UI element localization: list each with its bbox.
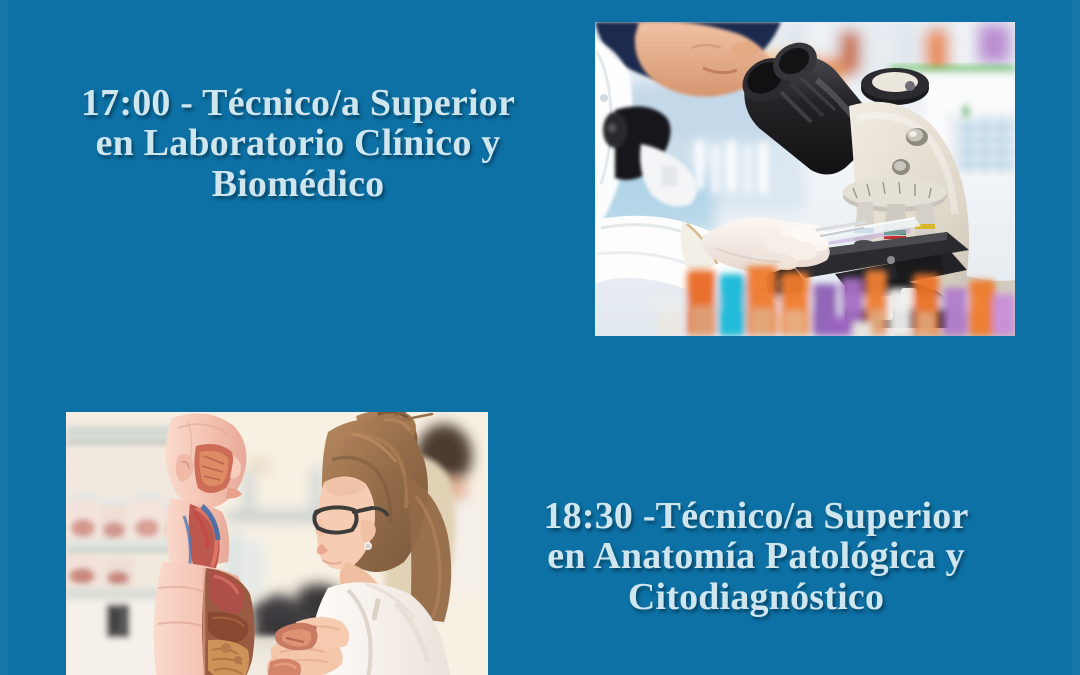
session-title-morning: 17:00 - Técnico/a Superior en Laboratori… — [34, 83, 562, 204]
left-edge-strip — [0, 0, 8, 675]
slide-root: Científico de laboratorio con bata blanc… — [0, 0, 1080, 675]
microscope-illustration — [595, 22, 1015, 336]
anatomy-illustration — [66, 412, 488, 675]
session-title-afternoon: 18:30 -Técnico/a Superior en Anatomía Pa… — [512, 496, 1000, 617]
right-edge-strip — [1072, 0, 1080, 675]
photo-anatomy: Estudiante de bata blanca con gafas exam… — [66, 412, 488, 675]
photo-microscope: Científico de laboratorio con bata blanc… — [595, 22, 1015, 336]
